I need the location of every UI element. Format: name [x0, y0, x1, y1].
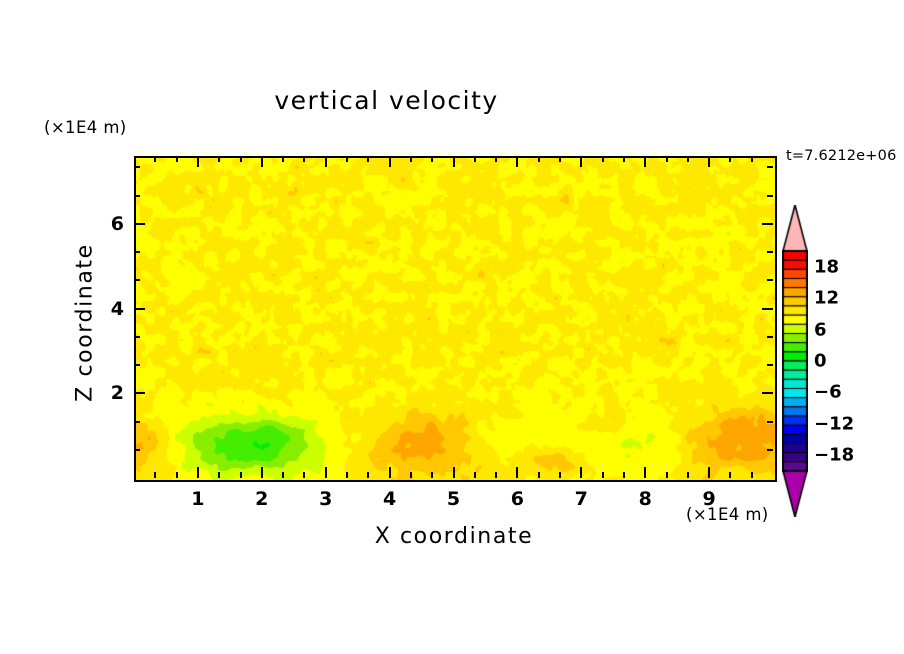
x-tick-label: 2	[255, 488, 268, 510]
z-major-tick-right	[762, 308, 773, 310]
x-major-tick-top	[516, 156, 518, 167]
x-minor-tick	[666, 472, 668, 478]
x-minor-tick	[431, 472, 433, 478]
z-minor-tick	[134, 364, 140, 366]
z-minor-tick-right	[767, 251, 773, 253]
x-tick-label: 4	[383, 488, 396, 510]
x-minor-tick-top	[218, 156, 220, 162]
x-minor-tick-top	[346, 156, 348, 162]
x-major-tick	[644, 467, 646, 478]
x-major-tick-top	[261, 156, 263, 167]
z-major-tick-right	[762, 392, 773, 394]
x-minor-tick-top	[495, 156, 497, 162]
z-minor-tick-right	[767, 279, 773, 281]
x-minor-tick	[346, 472, 348, 478]
x-minor-tick-top	[729, 156, 731, 162]
x-minor-tick-top	[751, 156, 753, 162]
x-tick-label: 1	[191, 488, 204, 510]
contour-plot-area	[134, 156, 777, 482]
x-axis-title: X coordinate	[134, 524, 774, 549]
z-major-tick-right	[762, 223, 773, 225]
x-major-tick-top	[453, 156, 455, 167]
x-minor-tick	[218, 472, 220, 478]
colorbar-tick-label: −12	[814, 413, 854, 434]
x-minor-tick-top	[303, 156, 305, 162]
x-major-tick	[708, 467, 710, 478]
x-major-tick	[516, 467, 518, 478]
z-minor-tick	[134, 251, 140, 253]
colorbar-tick-label: −6	[814, 382, 842, 403]
x-minor-tick	[623, 472, 625, 478]
x-minor-tick	[240, 472, 242, 478]
x-minor-tick	[303, 472, 305, 478]
x-minor-tick	[282, 472, 284, 478]
z-tick-label: 2	[100, 382, 124, 404]
x-minor-tick-top	[559, 156, 561, 162]
z-minor-tick-right	[767, 449, 773, 451]
x-major-tick-top	[389, 156, 391, 167]
x-minor-tick-top	[410, 156, 412, 162]
z-minor-tick	[134, 449, 140, 451]
x-minor-tick	[538, 472, 540, 478]
x-major-tick	[580, 467, 582, 478]
page-title: vertical velocity	[0, 86, 773, 115]
x-minor-tick-top	[176, 156, 178, 162]
x-minor-tick-top	[474, 156, 476, 162]
z-minor-tick	[134, 336, 140, 338]
colorbar-tick-label: 18	[814, 256, 839, 277]
x-major-tick-top	[580, 156, 582, 167]
y-axis-title: Z coordinate	[73, 213, 98, 433]
x-minor-tick	[495, 472, 497, 478]
x-minor-tick	[559, 472, 561, 478]
z-minor-tick	[134, 421, 140, 423]
x-minor-tick	[410, 472, 412, 478]
z-minor-tick-right	[767, 336, 773, 338]
x-tick-label: 3	[319, 488, 332, 510]
x-major-tick	[261, 467, 263, 478]
x-minor-tick-top	[240, 156, 242, 162]
x-minor-tick	[729, 472, 731, 478]
x-minor-tick-top	[538, 156, 540, 162]
x-major-tick	[325, 467, 327, 478]
z-minor-tick-right	[767, 364, 773, 366]
x-major-tick	[389, 467, 391, 478]
x-minor-tick-top	[687, 156, 689, 162]
colorbar-tick-label: −18	[814, 445, 854, 466]
x-tick-label: 7	[575, 488, 588, 510]
colorbar-tick-label: 0	[814, 351, 827, 372]
z-major-tick	[134, 308, 145, 310]
z-minor-tick	[134, 279, 140, 281]
timestamp-annotation: t=7.6212e+06	[786, 148, 897, 164]
x-major-tick	[453, 467, 455, 478]
z-tick-label: 6	[100, 213, 124, 235]
x-minor-tick	[154, 472, 156, 478]
x-minor-tick-top	[431, 156, 433, 162]
x-minor-tick-top	[154, 156, 156, 162]
x-minor-tick	[176, 472, 178, 478]
z-major-tick	[134, 392, 145, 394]
colorbar	[782, 205, 808, 517]
vertical-velocity-field	[136, 158, 775, 480]
x-minor-tick-top	[367, 156, 369, 162]
x-minor-tick-top	[666, 156, 668, 162]
x-major-tick-top	[708, 156, 710, 167]
x-major-tick-top	[325, 156, 327, 167]
x-minor-tick-top	[602, 156, 604, 162]
x-minor-tick	[474, 472, 476, 478]
x-minor-tick	[751, 472, 753, 478]
z-minor-tick-right	[767, 166, 773, 168]
x-minor-tick	[602, 472, 604, 478]
x-major-tick-top	[644, 156, 646, 167]
x-minor-tick-top	[623, 156, 625, 162]
x-major-tick-top	[197, 156, 199, 167]
colorbar-gradient	[782, 205, 808, 517]
z-minor-tick-right	[767, 421, 773, 423]
x-axis-unit-label: (×1E4 m)	[686, 505, 769, 524]
z-minor-tick	[134, 166, 140, 168]
x-minor-tick-top	[282, 156, 284, 162]
x-minor-tick	[367, 472, 369, 478]
z-axis-unit-label: (×1E4 m)	[44, 118, 127, 137]
z-minor-tick	[134, 195, 140, 197]
z-major-tick	[134, 223, 145, 225]
x-tick-label: 8	[639, 488, 652, 510]
x-tick-label: 9	[702, 488, 715, 510]
z-tick-label: 4	[100, 298, 124, 320]
z-minor-tick-right	[767, 195, 773, 197]
x-minor-tick	[687, 472, 689, 478]
x-tick-label: 6	[511, 488, 524, 510]
x-tick-label: 5	[447, 488, 460, 510]
colorbar-tick-label: 6	[814, 319, 827, 340]
colorbar-tick-label: 12	[814, 288, 839, 309]
x-major-tick	[197, 467, 199, 478]
